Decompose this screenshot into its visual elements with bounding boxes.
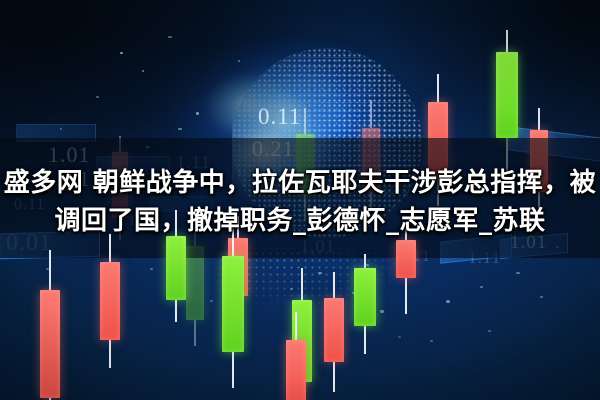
- vignette-overlay: [0, 0, 600, 400]
- banner-image: 0.11 0.21 1.01 1.11 0.11 0.01 1.01 0.11 …: [0, 0, 600, 400]
